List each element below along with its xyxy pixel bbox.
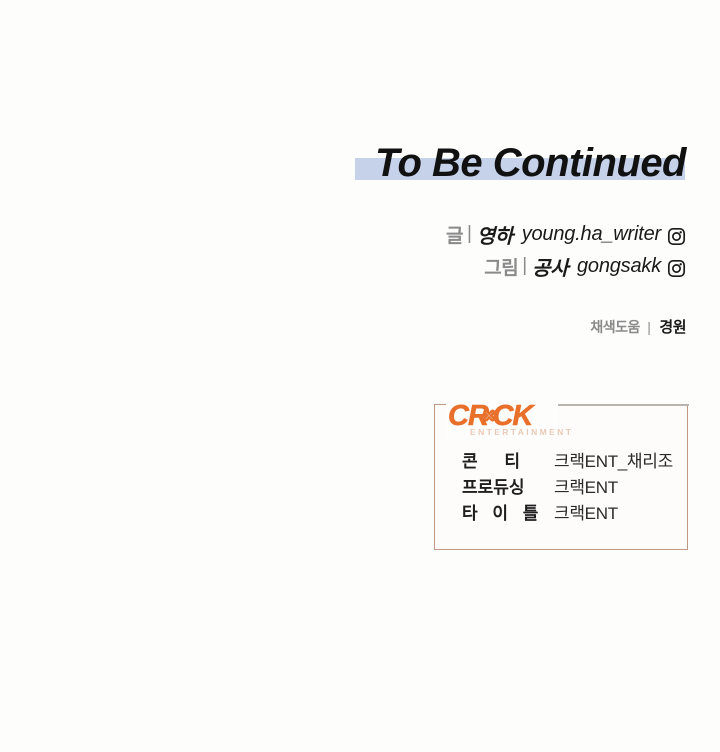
assist-role-label: 채색도움 xyxy=(590,319,640,335)
studio-credit-row: 콘 티 크랙ENT_채리조 xyxy=(462,447,688,473)
credit-role-label: 글 xyxy=(446,221,463,248)
color-assist-credit: 채색도움 | 경원 xyxy=(0,316,686,337)
studio-credit-value: 크랙ENT_채리조 xyxy=(554,447,673,472)
instagram-icon[interactable] xyxy=(667,259,686,278)
studio-credit-value: 크랙ENT xyxy=(554,499,618,524)
studio-credit-key: 타 이 틀 xyxy=(462,499,554,524)
credit-role-label: 그림 xyxy=(484,253,518,280)
studio-credit-row: 타 이 틀 크랙ENT xyxy=(462,499,688,525)
comic-end-card-page: To Be Continued 글 | 영하 young.ha_writer 그… xyxy=(0,0,720,752)
credit-divider: | xyxy=(522,255,527,277)
credit-social-handle: gongsakk xyxy=(577,255,661,278)
instagram-icon[interactable] xyxy=(667,227,686,246)
studio-credit-row: 프로듀싱 크랙ENT xyxy=(462,473,688,499)
credit-pen-name: 공사 xyxy=(532,252,568,281)
studio-box-top-rule xyxy=(558,404,689,406)
to-be-continued-text: To Be Continued xyxy=(0,140,686,186)
credit-pen-name: 영하 xyxy=(477,220,513,249)
credit-social-handle: young.ha_writer xyxy=(522,223,661,246)
studio-credit-key: 콘 티 xyxy=(462,447,554,472)
credit-divider: | xyxy=(467,223,472,245)
crack-entertainment-logo: CR✕CK ENTERTAINMENT xyxy=(446,401,558,441)
studio-credit-key: 프로듀싱 xyxy=(462,473,554,498)
credit-row-writer: 글 | 영하 young.ha_writer xyxy=(0,218,686,250)
assist-divider: | xyxy=(647,319,651,335)
to-be-continued-banner: To Be Continued xyxy=(0,140,690,200)
credit-row-artist: 그림 | 공사 gongsakk xyxy=(0,250,686,282)
assist-name: 경원 xyxy=(659,319,686,336)
crack-x-mark-icon: ✕ xyxy=(483,408,495,425)
crack-logo-subtitle: ENTERTAINMENT xyxy=(470,427,573,437)
studio-credit-value: 크랙ENT xyxy=(554,473,618,498)
studio-credits-list: 콘 티 크랙ENT_채리조 프로듀싱 크랙ENT 타 이 틀 크랙ENT xyxy=(462,447,688,525)
author-credits: 글 | 영하 young.ha_writer 그림 | 공사 gongsakk xyxy=(0,218,686,282)
